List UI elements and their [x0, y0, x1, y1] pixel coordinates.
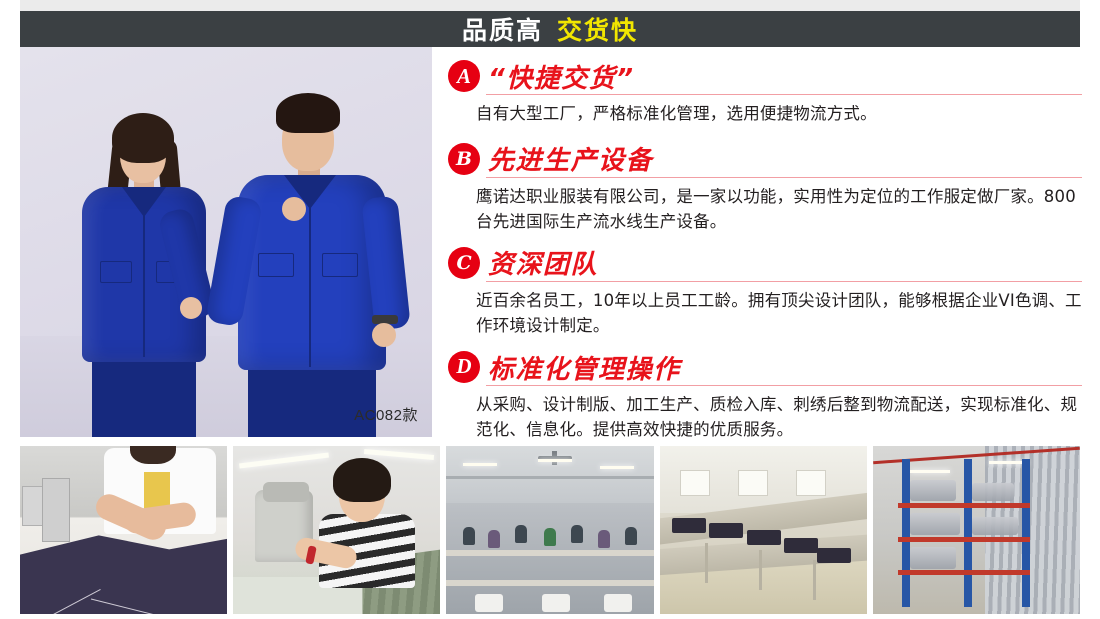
rail-leg-1 — [705, 543, 708, 583]
ceiling-light-b — [538, 459, 572, 462]
thumbnail-cutting-room[interactable] — [20, 446, 227, 614]
garment-1 — [672, 518, 706, 533]
thumbnail-conveyor-line[interactable] — [660, 446, 867, 614]
rack-post-3 — [1022, 459, 1030, 607]
feature-item-c: C 资深团队 近百余名员工，10年以上员工工龄。拥有顶尖设计团队，能够根据企业V… — [448, 247, 1084, 339]
feature-item-a: A “快捷交货” 自有大型工厂，严格标准化管理，选用便捷物流方式。 — [448, 60, 1084, 127]
ceiling-area — [446, 446, 653, 503]
feature-b-title: 先进生产设备 — [488, 148, 653, 176]
feature-d-underline — [486, 385, 1082, 386]
man-zipper — [309, 197, 311, 367]
white-bundle-2 — [542, 594, 570, 612]
thumbnail-warehouse-racks[interactable] — [873, 446, 1080, 614]
feature-b-header: B 先进生产设备 — [448, 143, 1084, 177]
floor-worker-4 — [544, 528, 556, 546]
work-row-2 — [446, 580, 653, 586]
feature-c-header: C 资深团队 — [448, 247, 1084, 281]
feature-list: A “快捷交货” 自有大型工厂，严格标准化管理，选用便捷物流方式。 B 先进生产… — [448, 60, 1084, 438]
feature-a-title: “快捷交货” — [488, 66, 635, 94]
floor-worker-6 — [598, 530, 610, 548]
rack-shelf-1 — [898, 503, 1031, 508]
garment-5 — [817, 548, 851, 563]
work-row-1 — [446, 550, 653, 556]
ceiling-beam — [446, 476, 653, 479]
feature-a-header: A “快捷交货” — [448, 60, 1084, 94]
garment-3 — [747, 530, 781, 545]
packed-goods-2 — [972, 483, 1013, 501]
feature-item-b: B 先进生产设备 鹰诺达职业服装有限公司，是一家以功能，实用性为定位的工作服定做… — [448, 143, 1084, 235]
window-2 — [738, 470, 768, 496]
feature-d-title: 标准化管理操作 — [488, 357, 681, 385]
packed-goods-3 — [910, 513, 960, 535]
feature-c-title: 资深团队 — [488, 252, 598, 280]
badge-c-icon: C — [448, 247, 480, 279]
badge-b-icon: B — [448, 143, 480, 175]
rack-post-1 — [902, 459, 910, 607]
thumbnail-sewing-operator[interactable] — [233, 446, 440, 614]
feature-b-body: 鹰诺达职业服装有限公司，是一家以功能，实用性为定位的工作服定做厂家。800台先进… — [476, 184, 1084, 235]
garment-4 — [784, 538, 818, 553]
sewing-machine-head — [263, 482, 309, 502]
woman-hand — [180, 297, 202, 319]
ceiling-light-a — [463, 463, 497, 466]
rail-leg-3 — [813, 560, 816, 600]
product-code-label: AC082款 — [354, 404, 418, 425]
window-3 — [796, 470, 826, 496]
window-1 — [680, 470, 710, 496]
factory-photo-strip — [20, 446, 1080, 614]
feature-c-underline — [486, 281, 1082, 282]
banner-top-strip — [20, 0, 1080, 11]
feature-a-underline — [486, 94, 1082, 95]
man-hand-right — [372, 323, 396, 347]
rail-leg-2 — [759, 550, 762, 590]
man-pocket-left — [258, 253, 294, 277]
man-hair — [276, 93, 340, 133]
thumbnail-factory-floor[interactable] — [446, 446, 653, 614]
floor-worker-7 — [625, 527, 637, 545]
header-banner: 品质高 交货快 — [20, 11, 1080, 47]
woman-hair-top — [112, 113, 174, 163]
floor-worker-3 — [515, 525, 527, 543]
man-trousers — [248, 365, 376, 437]
feature-a-body: 自有大型工厂，严格标准化管理，选用便捷物流方式。 — [476, 101, 1084, 127]
feature-c-body: 近百余名员工，10年以上员工工龄。拥有顶尖设计团队，能够根据企业VI色调、工作环… — [476, 288, 1084, 339]
feature-b-underline — [486, 177, 1082, 178]
man-hand-left — [282, 197, 306, 221]
badge-a-icon: A — [448, 60, 480, 92]
floor-worker-2 — [488, 530, 500, 548]
woman-trousers — [92, 357, 196, 437]
packed-goods-5 — [910, 547, 956, 569]
ceiling-light-1 — [239, 453, 329, 469]
rack-shelf-2 — [898, 537, 1031, 542]
ceiling-light-2 — [364, 449, 434, 460]
banner-title-primary: 品质高 — [462, 11, 543, 47]
hero-product-photo: AC082款 — [20, 47, 432, 437]
pc-tower-shape — [42, 478, 70, 542]
white-bundle-1 — [475, 594, 503, 612]
woman-zipper — [143, 207, 145, 357]
garment-2 — [709, 523, 743, 538]
packed-goods-1 — [910, 480, 956, 502]
floor-worker-1 — [463, 527, 475, 545]
operator-hair — [333, 458, 391, 502]
badge-d-icon: D — [448, 351, 480, 383]
banner-title-accent: 交货快 — [557, 11, 638, 47]
rack-post-2 — [964, 459, 972, 607]
woman-pocket-left — [100, 261, 132, 283]
rack-shelf-3 — [898, 570, 1031, 575]
packed-goods-4 — [972, 517, 1018, 535]
ceiling-light-c — [600, 466, 634, 469]
feature-d-body: 从采购、设计制版、加工生产、质检入库、刺绣后整到物流配送，实现标准化、规范化、信… — [476, 392, 1084, 443]
feature-d-header: D 标准化管理操作 — [448, 351, 1084, 385]
feature-item-d: D 标准化管理操作 从采购、设计制版、加工生产、质检入库、刺绣后整到物流配送，实… — [448, 351, 1084, 443]
floor-worker-5 — [571, 525, 583, 543]
promotional-page: 品质高 交货快 AC082款 — [0, 0, 1100, 619]
man-pocket-right — [322, 253, 358, 277]
warehouse-light-1 — [910, 470, 950, 473]
white-bundle-3 — [604, 594, 632, 612]
